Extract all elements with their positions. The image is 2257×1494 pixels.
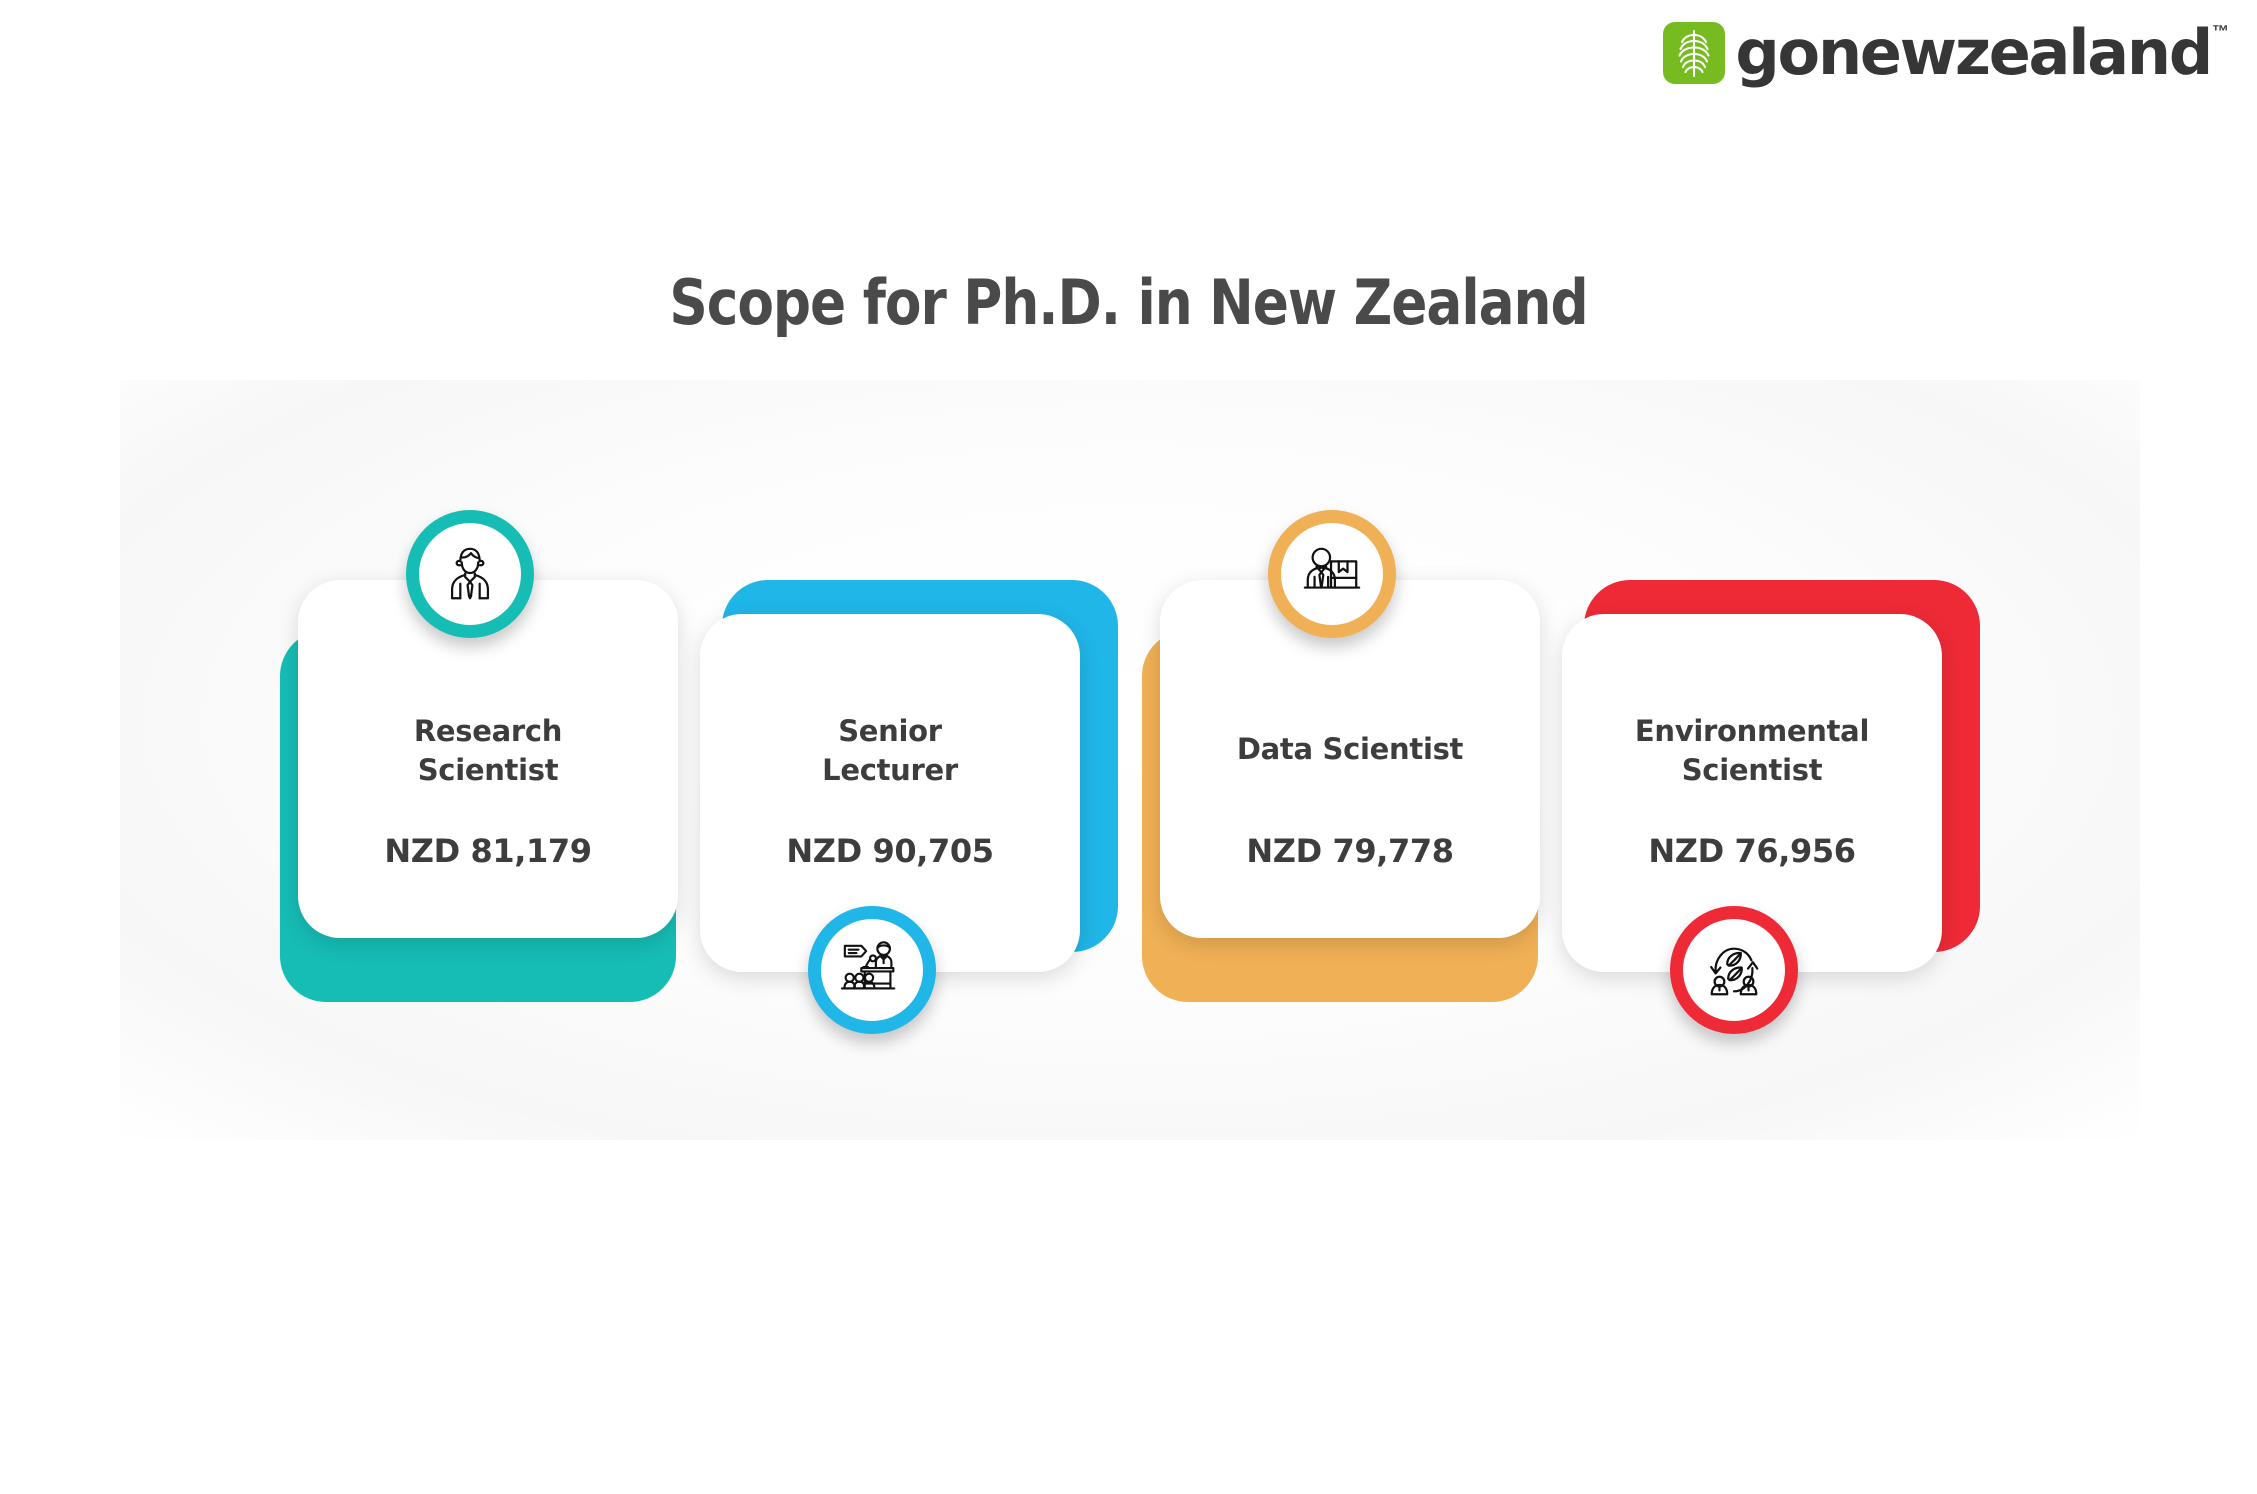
brand-logo[interactable]: gonewzealand ™ bbox=[1663, 14, 2229, 92]
card-salary-value: NZD 81,179 bbox=[298, 832, 678, 870]
card-salary-value: NZD 76,956 bbox=[1562, 832, 1942, 870]
card-job-title: Environmental Scientist bbox=[1562, 712, 1942, 789]
card-job-title: Senior Lecturer bbox=[700, 712, 1080, 789]
lecturer-podium-audience-icon bbox=[821, 919, 923, 1021]
salary-card-research-scientist[interactable]: Research Scientist NZD 81,179 bbox=[280, 580, 698, 980]
card-icon-badge[interactable] bbox=[1670, 906, 1798, 1034]
salary-card-row: Research Scientist NZD 81,179 bbox=[280, 560, 2000, 1060]
salary-card-data-scientist[interactable]: Data Scientist NZD 79,778 bbox=[1142, 580, 1560, 980]
card-icon-badge[interactable] bbox=[1268, 510, 1396, 638]
card-job-title: Research Scientist bbox=[298, 712, 678, 789]
person-data-box-icon bbox=[1281, 523, 1383, 625]
businessman-suit-tie-icon bbox=[419, 523, 521, 625]
card-icon-badge[interactable] bbox=[406, 510, 534, 638]
salary-card-environmental-scientist[interactable]: Environmental Scientist NZD 76,956 bbox=[1562, 580, 1980, 980]
card-salary-value: NZD 90,705 bbox=[700, 832, 1080, 870]
fern-leaf-icon bbox=[1663, 22, 1725, 84]
salary-card-senior-lecturer[interactable]: Senior Lecturer NZD 90,705 bbox=[700, 580, 1118, 980]
brand-wordmark: gonewzealand bbox=[1735, 22, 2211, 84]
trademark-symbol: ™ bbox=[2212, 22, 2229, 42]
card-job-title: Data Scientist bbox=[1160, 730, 1540, 769]
card-salary-value: NZD 79,778 bbox=[1160, 832, 1540, 870]
recycling-leaf-people-icon bbox=[1683, 919, 1785, 1021]
card-icon-badge[interactable] bbox=[808, 906, 936, 1034]
page-title: Scope for Ph.D. in New Zealand bbox=[158, 266, 2099, 339]
